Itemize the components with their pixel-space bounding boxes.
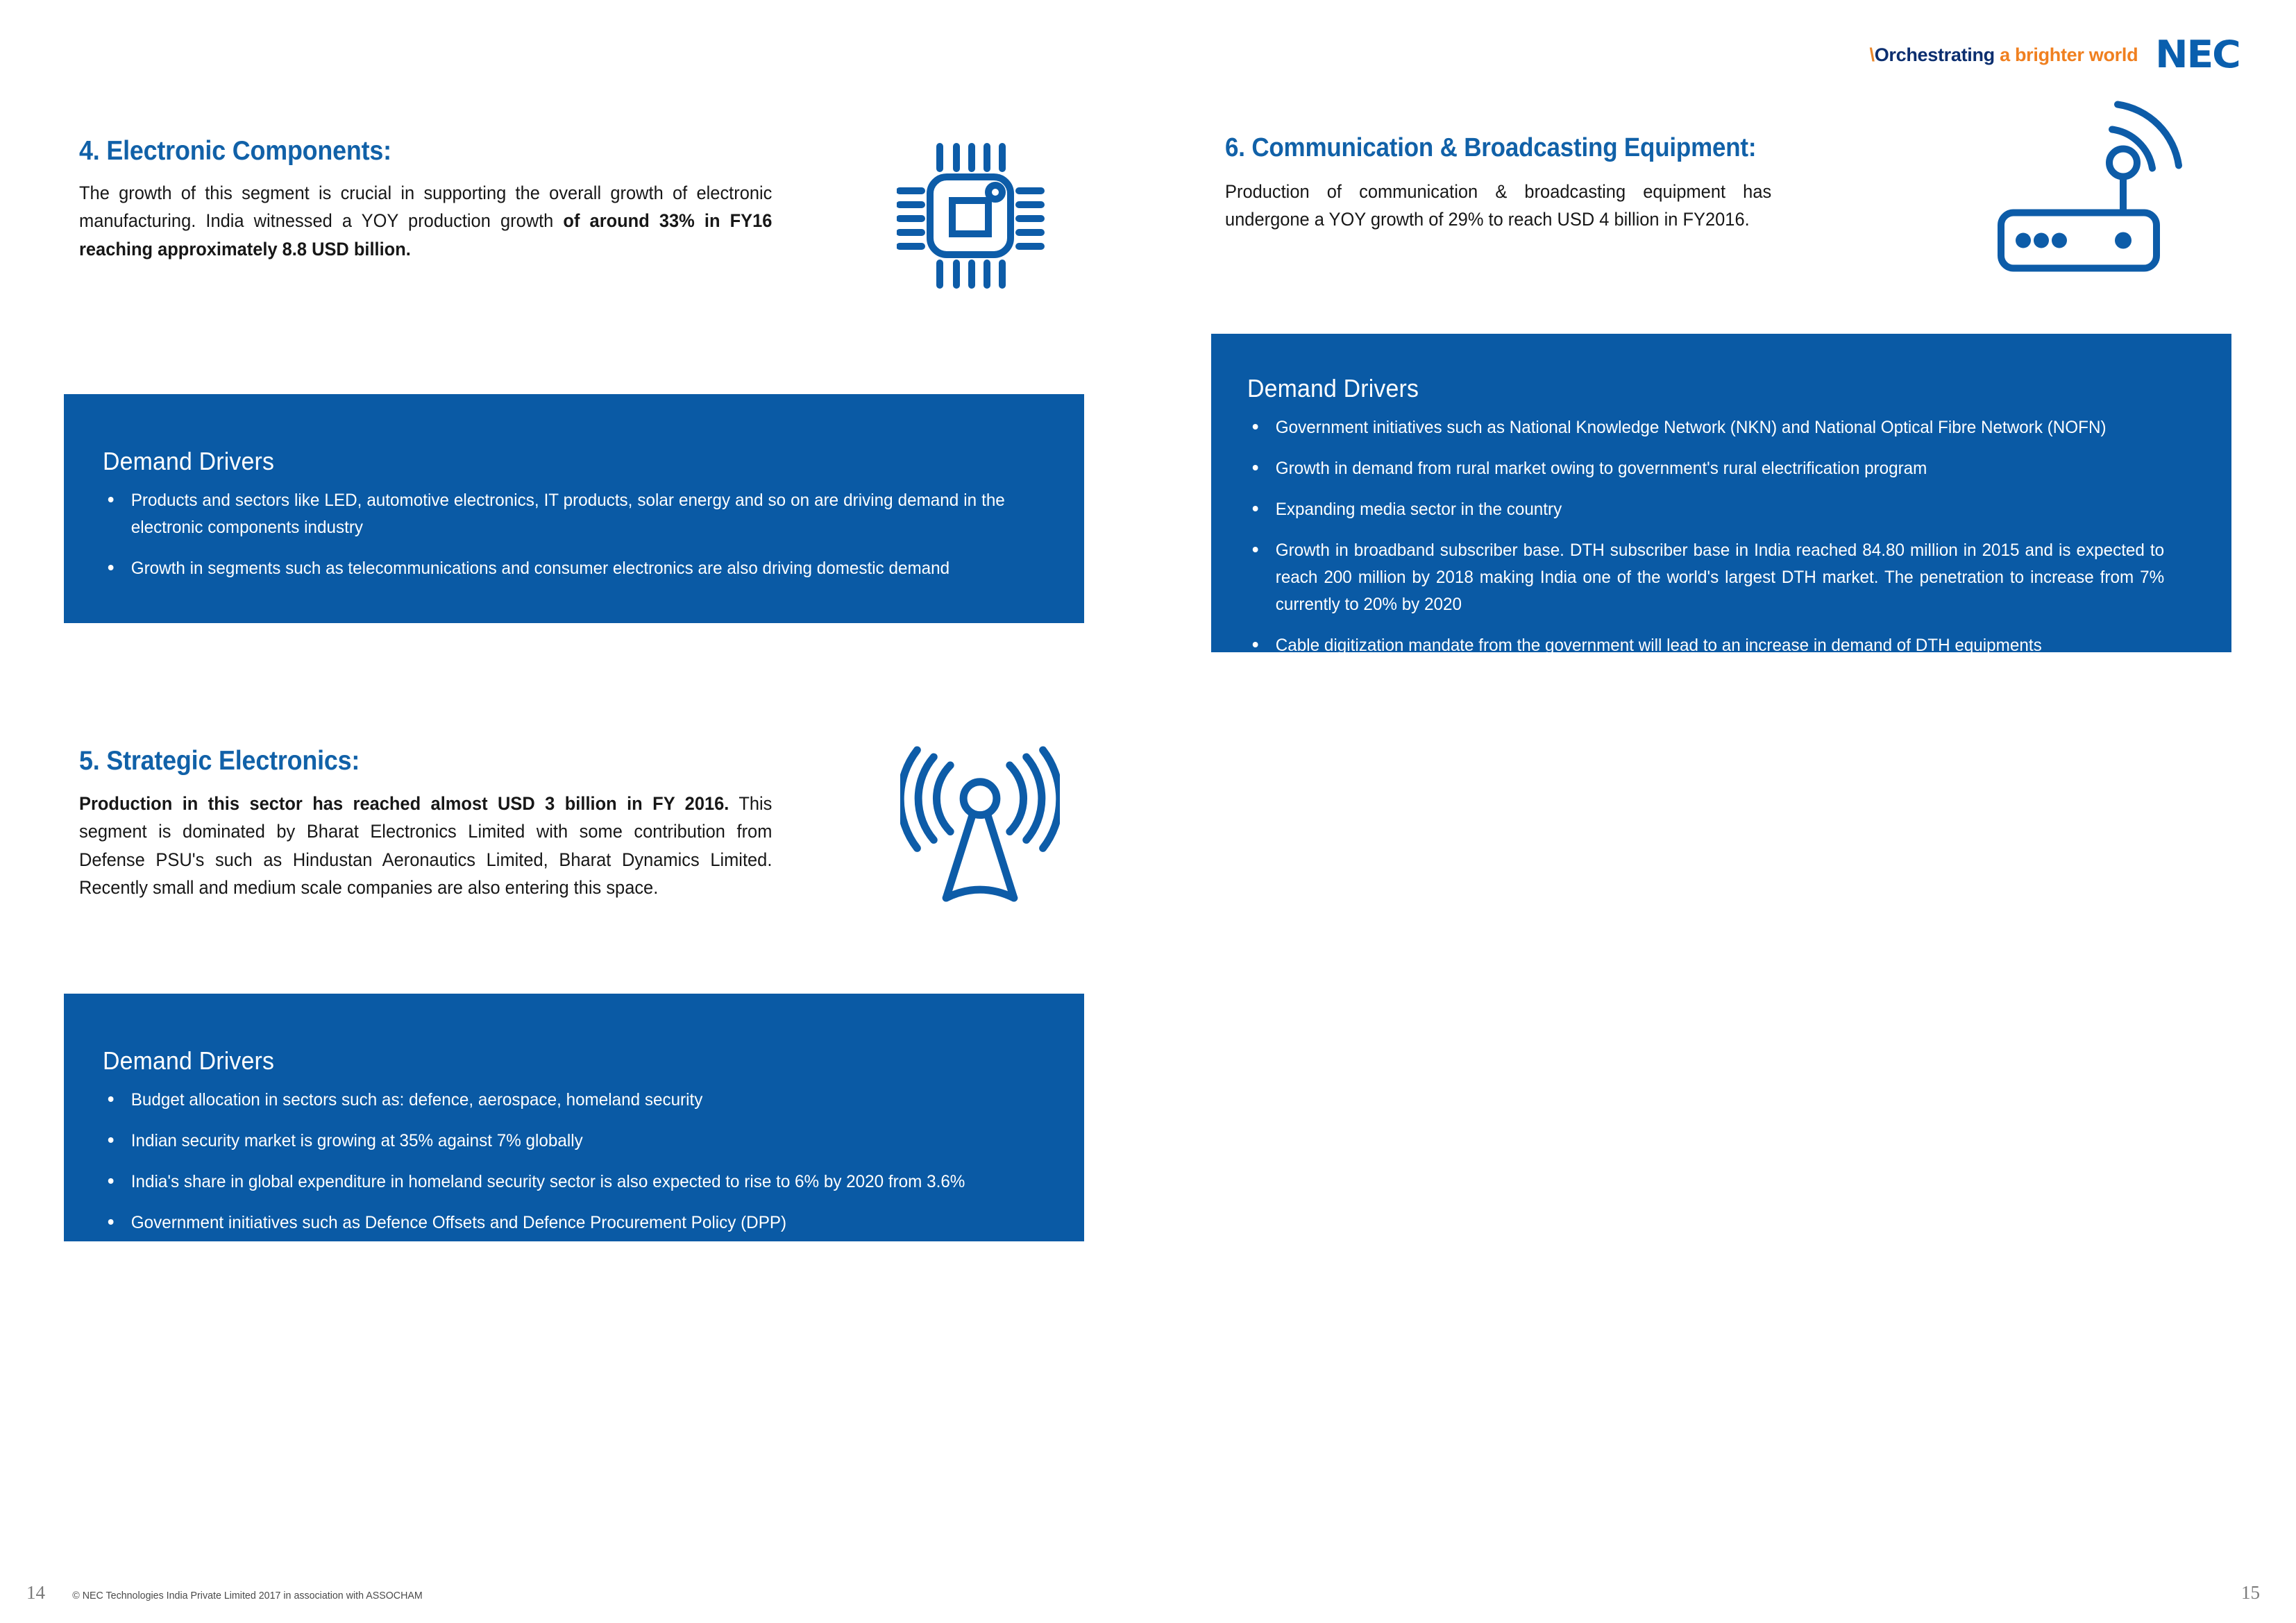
panel-title: Demand Drivers bbox=[103, 1046, 977, 1076]
copyright-notice: © NEC Technologies India Private Limited… bbox=[72, 1590, 422, 1601]
list-item: Cable digitization mandate from the gove… bbox=[1247, 632, 2164, 659]
broadcast-tower-icon bbox=[900, 746, 1060, 912]
left-column: 4. Electronic Components: The growth of … bbox=[64, 0, 1084, 1623]
section-5-body: Production in this sector has reached al… bbox=[79, 790, 772, 901]
footer-right: 15 bbox=[2241, 1582, 2260, 1604]
section-6-heading: 6. Communication & Broadcasting Equipmen… bbox=[1225, 133, 1756, 163]
wifi-router-icon bbox=[1995, 90, 2190, 278]
demand-drivers-panel-communication-broadcasting: Demand Drivers Government initiatives su… bbox=[1211, 334, 2231, 652]
page-number-right: 15 bbox=[2241, 1582, 2260, 1603]
list-item: Budget allocation in sectors such as: de… bbox=[103, 1087, 1005, 1114]
demand-drivers-list: Government initiatives such as National … bbox=[1247, 414, 2193, 659]
microchip-icon bbox=[897, 135, 1049, 298]
list-item: Indian security market is growing at 35%… bbox=[103, 1128, 1005, 1155]
list-item: Products and sectors like LED, automotiv… bbox=[103, 487, 1005, 541]
section-6-body: Production of communication & broadcasti… bbox=[1225, 178, 1771, 234]
section-5-body-bold: Production in this sector has reached al… bbox=[79, 793, 729, 814]
list-item: Government initiatives such as National … bbox=[1247, 414, 2164, 441]
list-item: India's share in global expenditure in h… bbox=[103, 1169, 1005, 1196]
list-item: Growth in segments such as telecommunica… bbox=[103, 555, 1005, 582]
list-item: Growth in broadband subscriber base. DTH… bbox=[1247, 537, 2164, 618]
list-item: Government initiatives such as Defence O… bbox=[103, 1209, 1005, 1237]
panel-title: Demand Drivers bbox=[103, 447, 977, 476]
section-4-heading: 4. Electronic Components: bbox=[79, 136, 391, 167]
panel-title: Demand Drivers bbox=[1247, 374, 2136, 403]
list-item: Growth in demand from rural market owing… bbox=[1247, 455, 2164, 482]
demand-drivers-list: Products and sectors like LED, automotiv… bbox=[103, 487, 1033, 582]
section-5-heading: 5. Strategic Electronics: bbox=[79, 746, 360, 776]
section-4-body: The growth of this segment is crucial in… bbox=[79, 179, 772, 263]
footer-left: 14 © NEC Technologies India Private Limi… bbox=[26, 1582, 432, 1604]
list-item: Expanding media sector in the country bbox=[1247, 496, 2164, 523]
demand-drivers-list: Budget allocation in sectors such as: de… bbox=[103, 1087, 1033, 1237]
page-number-left: 14 bbox=[26, 1582, 45, 1604]
right-column: 6. Communication & Broadcasting Equipmen… bbox=[1211, 0, 2231, 1623]
page-spread: \Orchestrating a brighter world NEC 4. E… bbox=[0, 0, 2296, 1623]
demand-drivers-panel-electronic-components: Demand Drivers Products and sectors like… bbox=[64, 394, 1084, 623]
demand-drivers-panel-strategic-electronics: Demand Drivers Budget allocation in sect… bbox=[64, 994, 1084, 1241]
